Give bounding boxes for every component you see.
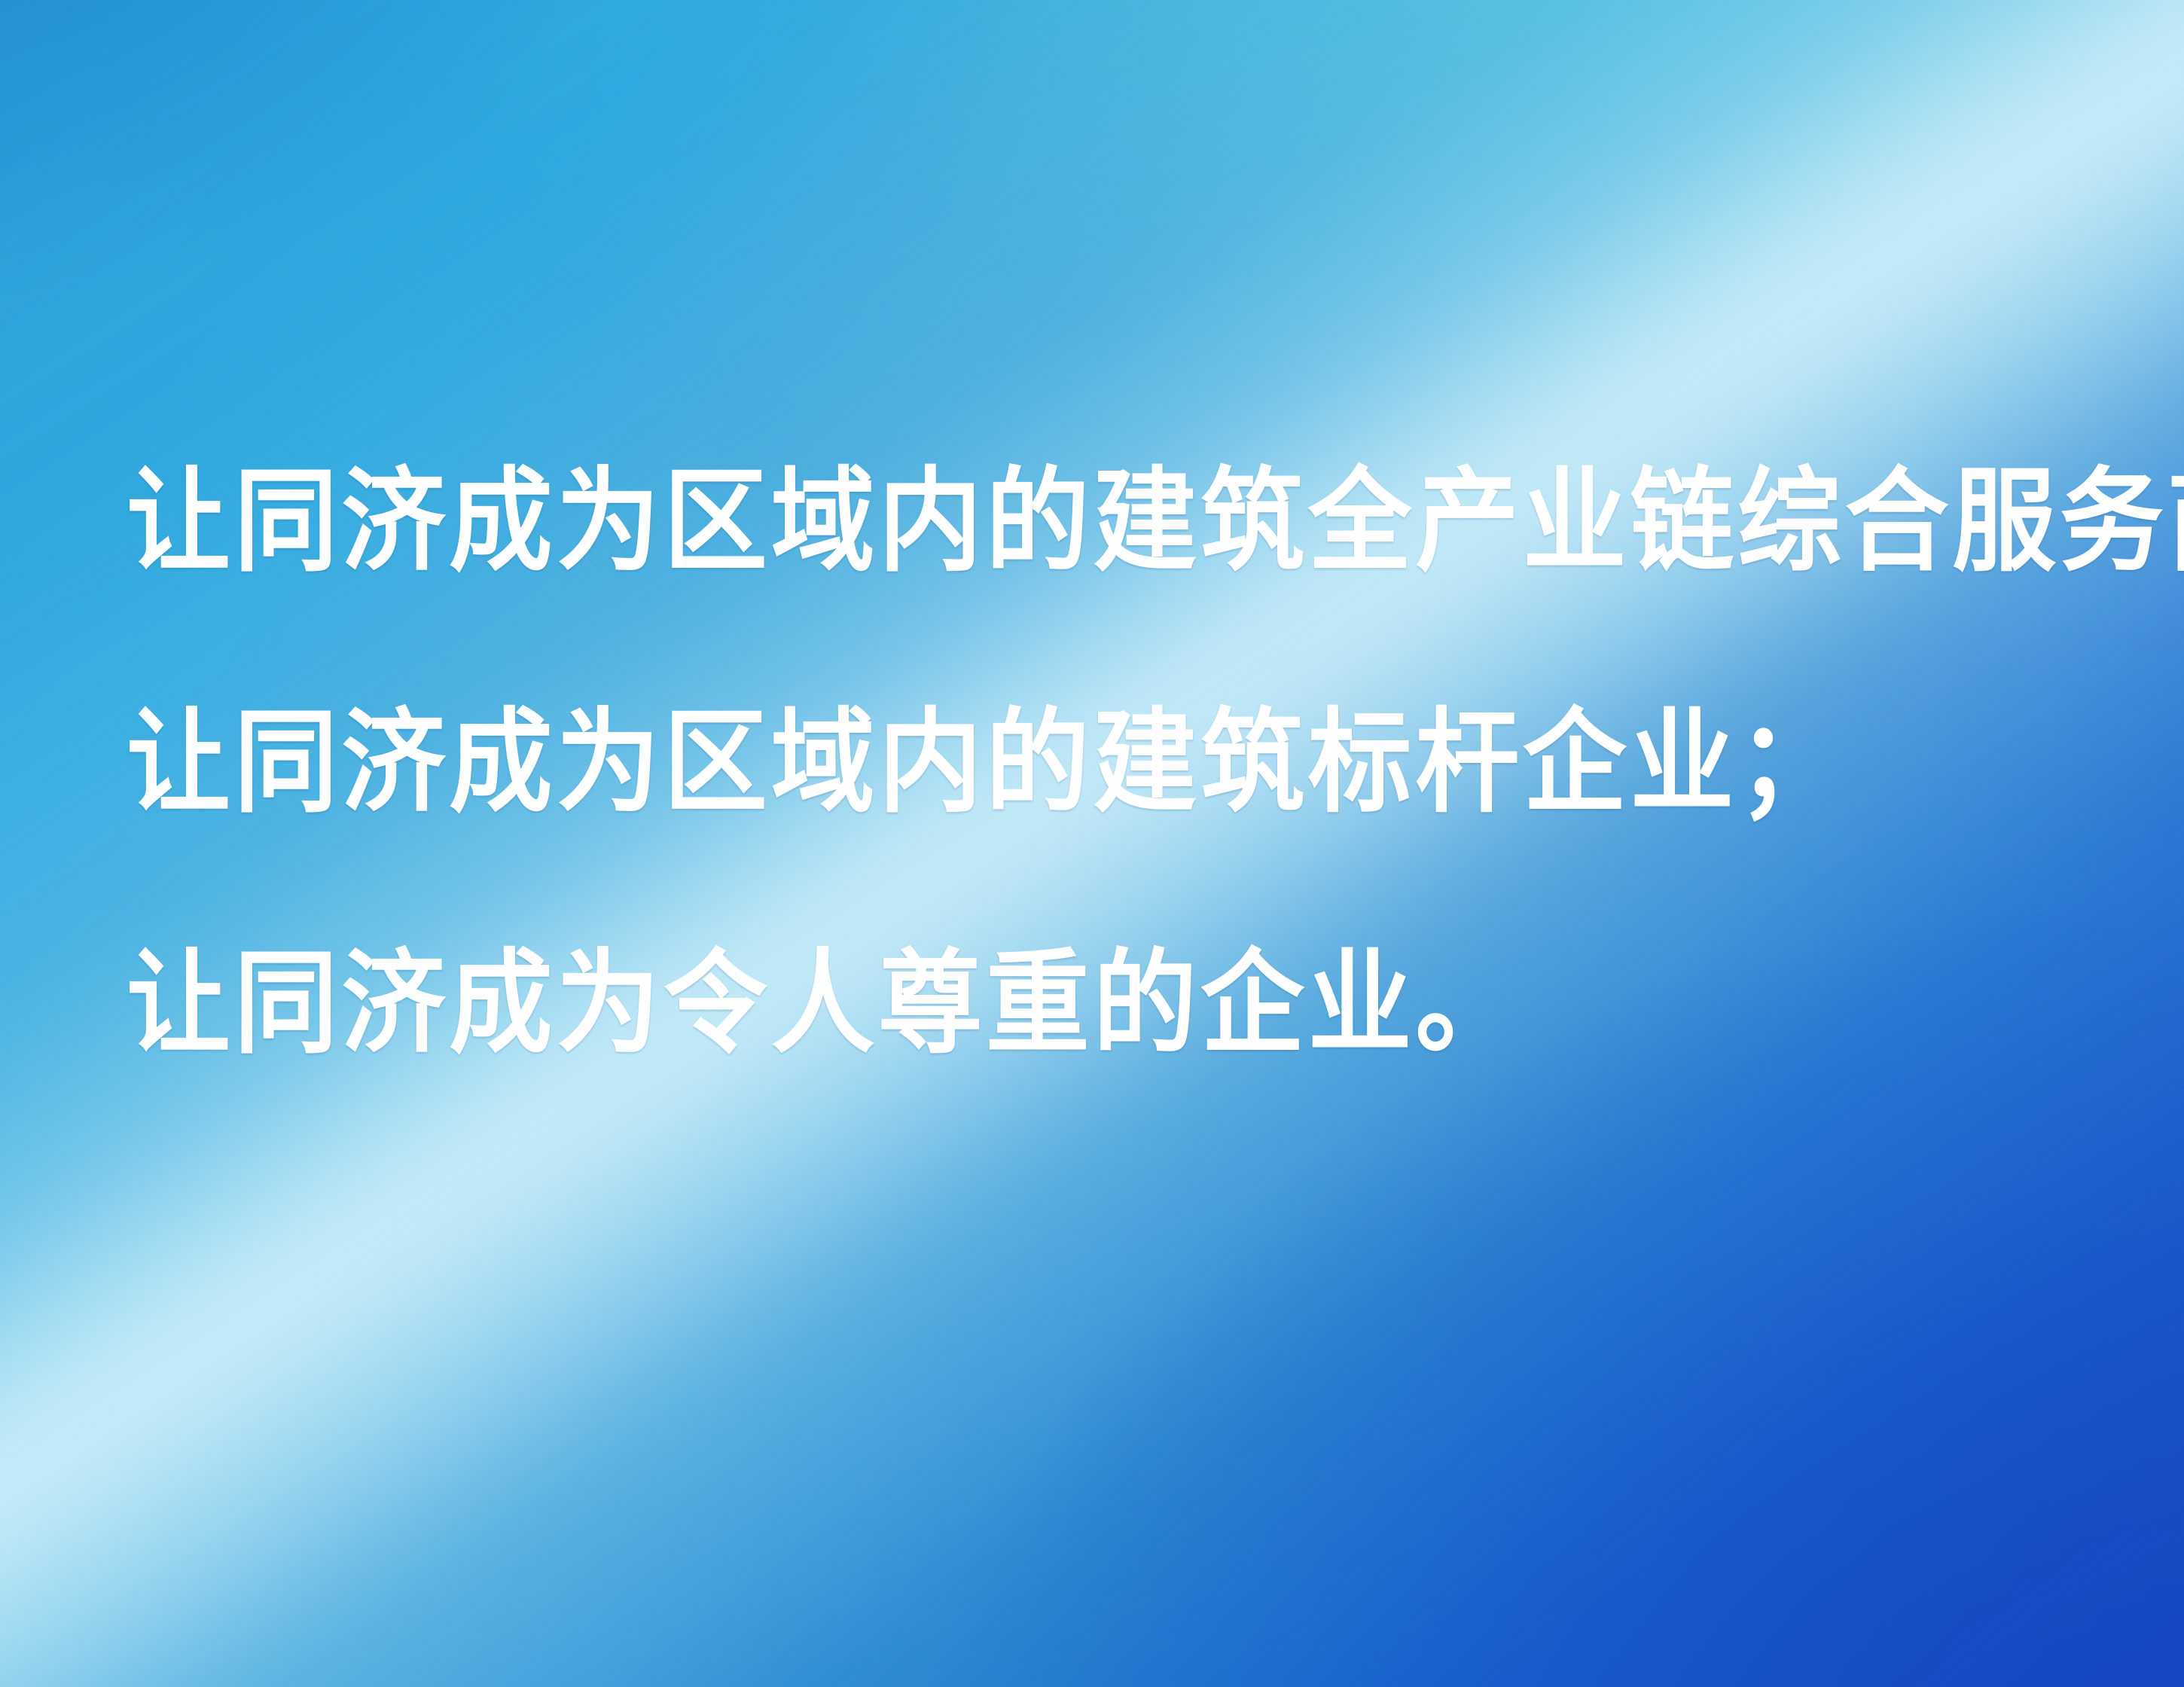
slogan-line-2: 让同济成为区域内的建筑标杆企业； <box>127 702 1942 822</box>
slogan-line-1: 让同济成为区域内的建筑全产业链综合服务商； <box>127 461 1942 581</box>
slogan-line-3: 让同济成为令人尊重的企业。 <box>127 943 1942 1063</box>
slogan-text-block: 让同济成为区域内的建筑全产业链综合服务商； 让同济成为区域内的建筑标杆企业； 让… <box>127 461 2100 1063</box>
slide-canvas: 让同济成为区域内的建筑全产业链综合服务商； 让同济成为区域内的建筑标杆企业； 让… <box>0 0 2184 1687</box>
